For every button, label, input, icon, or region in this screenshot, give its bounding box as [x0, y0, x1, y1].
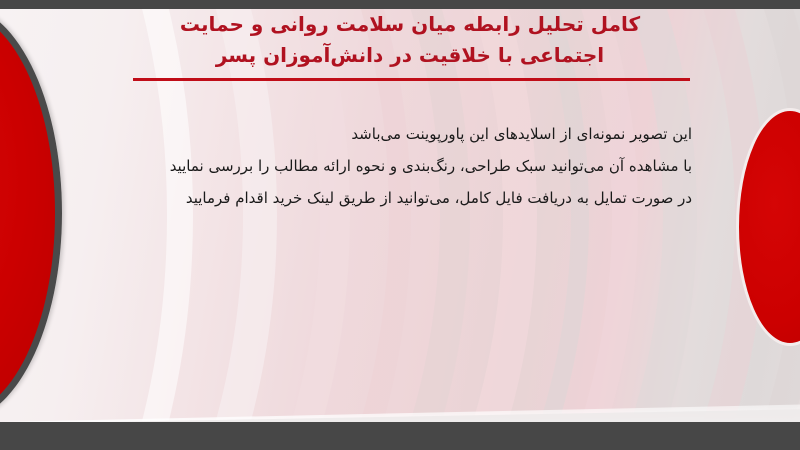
title-line-1: کامل تحلیل رابطه میان سلامت روانی و حمای…: [110, 9, 710, 40]
dark-band-top: [0, 0, 800, 9]
body-line-3: در صورت تمایل به دریافت فایل کامل، می‌تو…: [92, 182, 692, 214]
slide-title: کامل تحلیل رابطه میان سلامت روانی و حمای…: [110, 9, 710, 71]
dark-band-bottom: [0, 422, 800, 450]
presentation-slide: کامل تحلیل رابطه میان سلامت روانی و حمای…: [0, 0, 800, 450]
body-line-2: با مشاهده آن می‌توانید سبک طراحی، رنگ‌بن…: [92, 150, 692, 182]
title-underline: [133, 78, 690, 81]
slide-body: این تصویر نمونه‌ای از اسلایدهای این پاور…: [92, 118, 692, 214]
body-line-1: این تصویر نمونه‌ای از اسلایدهای این پاور…: [92, 118, 692, 150]
title-line-2: اجتماعی با خلاقیت در دانش‌آموزان پسر: [110, 40, 710, 71]
